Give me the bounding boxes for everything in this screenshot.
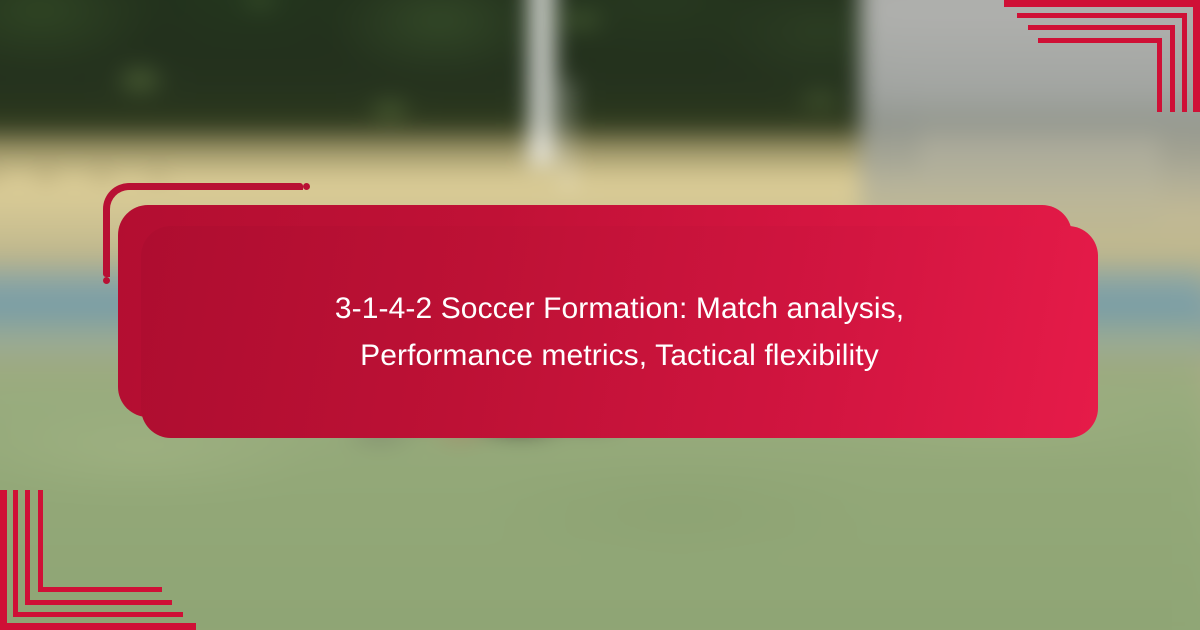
nested-corner-bracket-top-right [1000, 0, 1200, 112]
bracket-line-horizontal [0, 623, 196, 630]
bracket-line-vertical [1182, 13, 1187, 112]
card-title-line-2: Performance metrics, Tactical flexibilit… [360, 332, 879, 379]
bracket-line-vertical [1157, 38, 1162, 112]
bracket-line-horizontal [13, 612, 183, 617]
bracket-line-horizontal [1017, 13, 1187, 18]
background-goal-post [525, 0, 559, 165]
bracket-line-vertical [13, 490, 18, 617]
bracket-line-vertical [25, 490, 30, 605]
background-goal-post-secondary [560, 80, 576, 190]
bracket-line-horizontal [38, 587, 162, 592]
bracket-line-horizontal [1004, 0, 1200, 7]
bracket-line-vertical [0, 490, 7, 630]
bracket-line-vertical [1193, 0, 1200, 112]
bracket-line-vertical [38, 490, 43, 592]
bracket-line-vertical [1170, 25, 1175, 112]
bracket-line-horizontal [1028, 25, 1175, 30]
bracket-line-horizontal [25, 600, 172, 605]
background-leaf-highlights [0, 0, 960, 190]
bracket-line-horizontal [1038, 38, 1162, 43]
social-card-canvas: 3-1-4-2 Soccer Formation: Match analysis… [0, 0, 1200, 630]
nested-corner-bracket-bottom-left [0, 490, 200, 630]
card-title-line-1: 3-1-4-2 Soccer Formation: Match analysis… [335, 285, 904, 332]
card-title-block: 3-1-4-2 Soccer Formation: Match analysis… [141, 226, 1098, 438]
